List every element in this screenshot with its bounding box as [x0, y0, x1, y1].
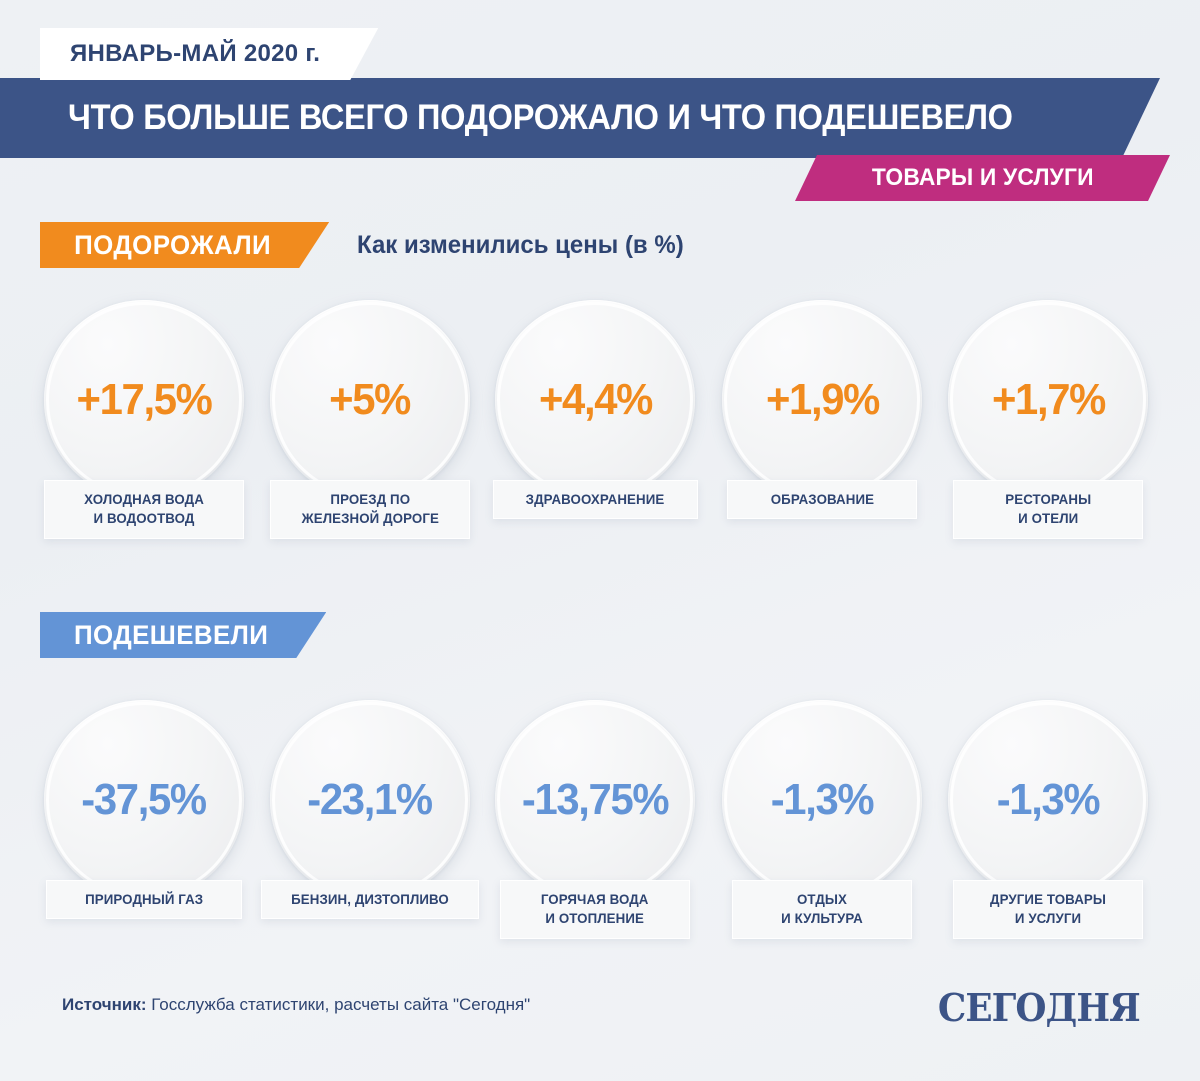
- riser-label-box: РЕСТОРАНЫИ ОТЕЛИ: [953, 480, 1143, 539]
- riser-label-box: ХОЛОДНАЯ ВОДАИ ВОДООТВОД: [44, 480, 244, 539]
- riser-card: +17,5%ХОЛОДНАЯ ВОДАИ ВОДООТВОД: [44, 300, 254, 550]
- riser-card: +4,4%ЗДРАВООХРАНЕНИЕ: [495, 300, 705, 550]
- faller-label: ГОРЯЧАЯ ВОДАИ ОТОПЛЕНИЕ: [541, 890, 649, 929]
- category-tag-banner: ТОВАРЫ И УСЛУГИ: [795, 155, 1170, 201]
- faller-bubble: -1,3%: [722, 700, 922, 900]
- page-title: ЧТО БОЛЬШЕ ВСЕГО ПОДОРОЖАЛО И ЧТО ПОДЕШЕ…: [68, 98, 1013, 138]
- faller-label-box: ОТДЫХИ КУЛЬТУРА: [732, 880, 912, 939]
- faller-label-box: ДРУГИЕ ТОВАРЫИ УСЛУГИ: [953, 880, 1143, 939]
- faller-bubble: -1,3%: [948, 700, 1148, 900]
- faller-value: -37,5%: [82, 775, 206, 825]
- source-note: Источник: Госслужба статистики, расчеты …: [62, 995, 530, 1015]
- footer: Источник: Госслужба статистики, расчеты …: [0, 985, 1200, 1045]
- faller-value: -13,75%: [522, 775, 668, 825]
- faller-card: -1,3%ДРУГИЕ ТОВАРЫИ УСЛУГИ: [948, 700, 1158, 950]
- riser-bubble: +5%: [270, 300, 470, 500]
- riser-label: ЗДРАВООХРАНЕНИЕ: [526, 490, 665, 509]
- faller-label-box: ГОРЯЧАЯ ВОДАИ ОТОПЛЕНИЕ: [500, 880, 690, 939]
- faller-label: ДРУГИЕ ТОВАРЫИ УСЛУГИ: [990, 890, 1106, 929]
- faller-value: -23,1%: [308, 775, 432, 825]
- riser-bubble: +1,7%: [948, 300, 1148, 500]
- faller-value: -1,3%: [997, 775, 1100, 825]
- date-label: ЯНВАРЬ-МАЙ 2020 г.: [70, 40, 320, 68]
- publisher-logo: СЕГОДНЯ: [938, 985, 1140, 1030]
- section-chip-risers: ПОДОРОЖАЛИ: [40, 222, 329, 268]
- riser-card: +1,9%ОБРАЗОВАНИЕ: [722, 300, 932, 550]
- riser-bubble: +17,5%: [44, 300, 244, 500]
- section-chip-fallers: ПОДЕШЕВЕЛИ: [40, 612, 326, 658]
- riser-label-box: ПРОЕЗД ПОЖЕЛЕЗНОЙ ДОРОГЕ: [270, 480, 470, 539]
- riser-label-box: ЗДРАВООХРАНЕНИЕ: [493, 480, 698, 519]
- riser-value: +5%: [330, 375, 411, 425]
- date-banner: ЯНВАРЬ-МАЙ 2020 г.: [40, 28, 378, 80]
- section-header-fallers: ПОДЕШЕВЕЛИ: [40, 612, 326, 658]
- riser-card: +5%ПРОЕЗД ПОЖЕЛЕЗНОЙ ДОРОГЕ: [270, 300, 480, 550]
- category-tag-label: ТОВАРЫ И УСЛУГИ: [872, 164, 1094, 192]
- faller-card: -13,75%ГОРЯЧАЯ ВОДАИ ОТОПЛЕНИЕ: [495, 700, 705, 950]
- faller-label: ОТДЫХИ КУЛЬТУРА: [781, 890, 863, 929]
- riser-bubble: +1,9%: [722, 300, 922, 500]
- faller-label-box: ПРИРОДНЫЙ ГАЗ: [46, 880, 242, 919]
- faller-card: -1,3%ОТДЫХИ КУЛЬТУРА: [722, 700, 932, 950]
- fallers-row: -37,5%ПРИРОДНЫЙ ГАЗ-23,1%БЕНЗИН, ДИЗТОПЛ…: [0, 700, 1200, 950]
- riser-value: +1,7%: [991, 375, 1104, 425]
- section-chip-label-risers: ПОДОРОЖАЛИ: [74, 230, 271, 261]
- section-chip-label-fallers: ПОДЕШЕВЕЛИ: [74, 620, 268, 651]
- faller-label: БЕНЗИН, ДИЗТОПЛИВО: [291, 890, 449, 909]
- faller-label: ПРИРОДНЫЙ ГАЗ: [85, 890, 203, 909]
- faller-bubble: -37,5%: [44, 700, 244, 900]
- riser-value: +1,9%: [765, 375, 878, 425]
- riser-bubble: +4,4%: [495, 300, 695, 500]
- header: ЯНВАРЬ-МАЙ 2020 г. ЧТО БОЛЬШЕ ВСЕГО ПОДО…: [0, 0, 1200, 205]
- faller-bubble: -23,1%: [270, 700, 470, 900]
- riser-value: +4,4%: [538, 375, 651, 425]
- riser-label-box: ОБРАЗОВАНИЕ: [727, 480, 917, 519]
- riser-label: РЕСТОРАНЫИ ОТЕЛИ: [1005, 490, 1091, 529]
- riser-label: ОБРАЗОВАНИЕ: [770, 490, 873, 509]
- source-text: Госслужба статистики, расчеты сайта "Сег…: [147, 995, 531, 1014]
- section-header-risers: ПОДОРОЖАЛИ Как изменились цены (в %): [40, 222, 697, 268]
- faller-value: -1,3%: [771, 775, 874, 825]
- title-banner: ЧТО БОЛЬШЕ ВСЕГО ПОДОРОЖАЛО И ЧТО ПОДЕШЕ…: [0, 78, 1160, 158]
- faller-card: -37,5%ПРИРОДНЫЙ ГАЗ: [44, 700, 254, 950]
- faller-card: -23,1%БЕНЗИН, ДИЗТОПЛИВО: [270, 700, 480, 950]
- section-note-risers: Как изменились цены (в %): [357, 231, 684, 260]
- riser-card: +1,7%РЕСТОРАНЫИ ОТЕЛИ: [948, 300, 1158, 550]
- riser-label: ПРОЕЗД ПОЖЕЛЕЗНОЙ ДОРОГЕ: [301, 490, 438, 529]
- riser-label: ХОЛОДНАЯ ВОДАИ ВОДООТВОД: [84, 490, 204, 529]
- risers-row: +17,5%ХОЛОДНАЯ ВОДАИ ВОДООТВОД+5%ПРОЕЗД …: [0, 300, 1200, 550]
- source-prefix: Источник:: [62, 995, 147, 1014]
- faller-label-box: БЕНЗИН, ДИЗТОПЛИВО: [261, 880, 479, 919]
- riser-value: +17,5%: [77, 375, 212, 425]
- faller-bubble: -13,75%: [495, 700, 695, 900]
